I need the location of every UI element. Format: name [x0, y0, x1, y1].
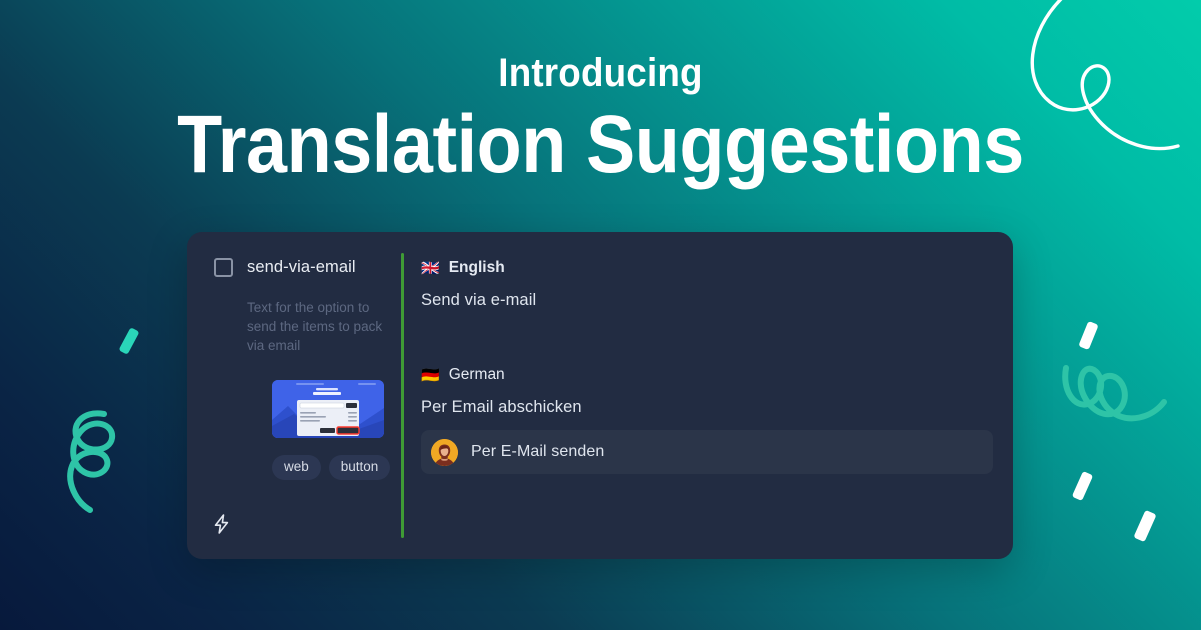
- promo-banner: Introducing Translation Suggestions send…: [0, 0, 1201, 630]
- confetti-piece: [118, 327, 139, 355]
- page-title: Translation Suggestions: [60, 104, 1141, 186]
- confetti-piece: [1133, 510, 1156, 542]
- language-name: English: [449, 259, 505, 277]
- screenshot-thumbnail-image: [272, 380, 384, 438]
- language-row-english: 🇬🇧 English: [421, 259, 1013, 277]
- entry-key-label: send-via-email: [247, 258, 356, 277]
- translation-value-german[interactable]: Per Email abschicken: [421, 398, 1013, 417]
- confetti-piece: [1078, 321, 1098, 350]
- screenshot-thumbnail[interactable]: [272, 380, 384, 438]
- translation-value-english[interactable]: Send via e-mail: [421, 291, 1013, 310]
- suggestion-text: Per E-Mail senden: [471, 443, 604, 461]
- language-row-german: 🇩🇪 German: [421, 366, 1013, 384]
- flag-uk-icon: 🇬🇧: [421, 261, 440, 276]
- tag-chip[interactable]: web: [272, 455, 321, 480]
- kicker-text: Introducing: [48, 52, 1153, 94]
- lightning-bolt-icon[interactable]: [213, 514, 230, 539]
- flag-germany-icon: 🇩🇪: [421, 368, 440, 383]
- spiral-coil-squiggle-icon: [48, 402, 158, 527]
- double-loop-squiggle-icon: [1060, 358, 1175, 430]
- user-avatar-icon: [431, 439, 458, 466]
- translations-panel: 🇬🇧 English Send via e-mail 🇩🇪 German Per…: [404, 232, 1013, 559]
- tag-chip[interactable]: button: [329, 455, 391, 480]
- key-row: send-via-email: [214, 258, 401, 277]
- translation-entry-card: send-via-email Text for the option to se…: [187, 232, 1013, 559]
- section-spacer: [421, 310, 1013, 366]
- entry-description: Text for the option to send the items to…: [247, 298, 393, 355]
- entry-meta-panel: send-via-email Text for the option to se…: [187, 232, 401, 559]
- language-name: German: [449, 366, 505, 384]
- headline-block: Introducing Translation Suggestions: [0, 52, 1201, 186]
- tag-list: web button: [272, 455, 401, 480]
- confetti-piece: [1072, 471, 1093, 501]
- translation-suggestion-row[interactable]: Per E-Mail senden: [421, 430, 993, 474]
- checkbox-unchecked-icon[interactable]: [214, 258, 233, 277]
